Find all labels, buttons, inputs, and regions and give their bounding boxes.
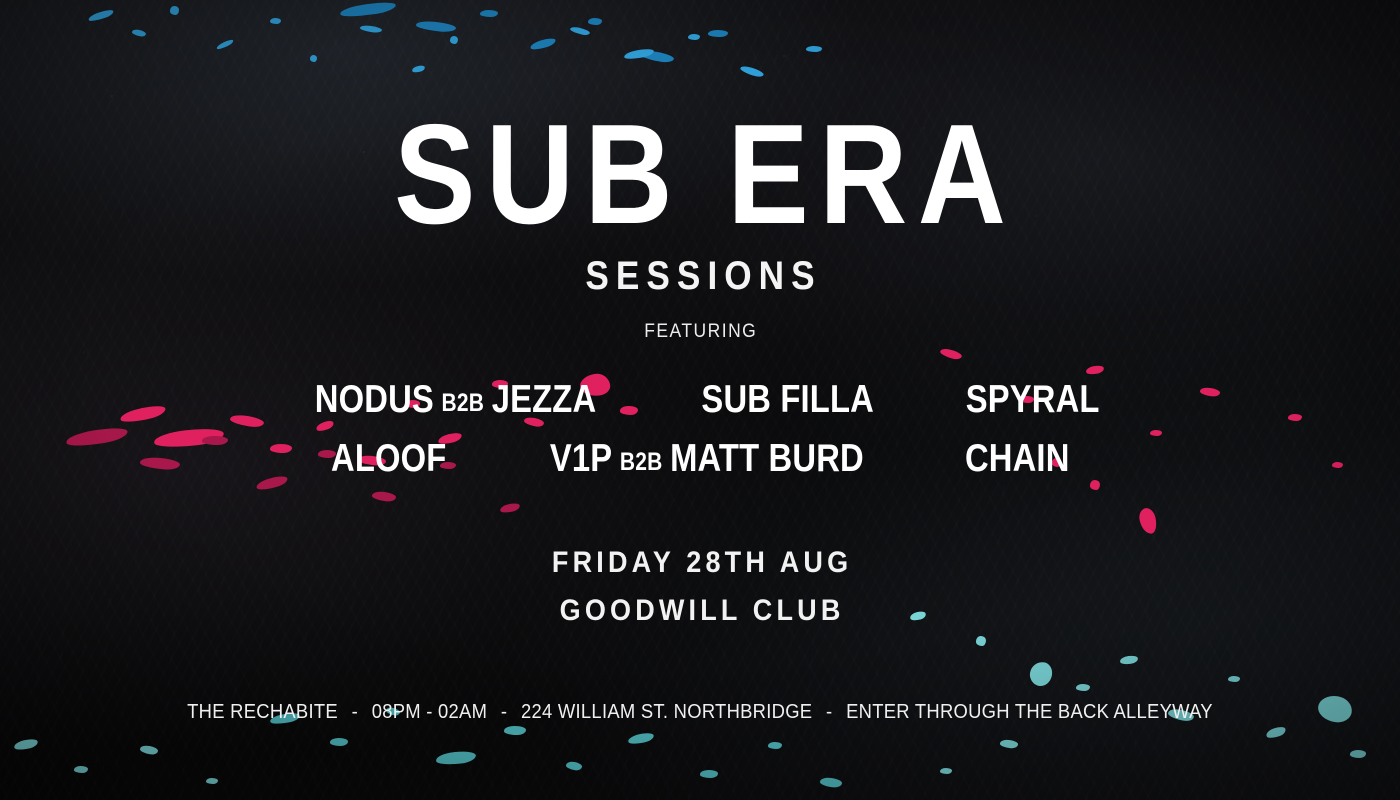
act-name: V1P bbox=[550, 439, 612, 478]
lineup-row-2: ALOOF V1P B2B MATT BURD CHAIN bbox=[0, 439, 1400, 478]
footer-time: 08PM - 02AM bbox=[372, 701, 488, 723]
act-name: SPYRAL bbox=[965, 380, 1099, 419]
act-name-secondary: JEZZA bbox=[492, 380, 597, 419]
footer-separator: - bbox=[343, 701, 366, 723]
event-title: SUB ERA bbox=[98, 104, 1302, 246]
flyer-content: SUB ERA SESSIONS FEATURING NODUS B2B JEZ… bbox=[0, 0, 1400, 800]
act-joiner: B2B bbox=[620, 450, 663, 475]
event-flyer: SUB ERA SESSIONS FEATURING NODUS B2B JEZ… bbox=[0, 0, 1400, 800]
act-name: ALOOF bbox=[331, 439, 446, 478]
lineup-act: SUB FILLA bbox=[702, 380, 875, 419]
act-joiner: B2B bbox=[442, 391, 485, 416]
lineup-row-1: NODUS B2B JEZZA SUB FILLA SPYRAL bbox=[0, 380, 1400, 419]
event-date: FRIDAY 28TH AUG bbox=[70, 548, 1330, 578]
footer-separator: - bbox=[818, 701, 841, 723]
footer-entry-note: ENTER THROUGH THE BACK ALLEYWAY bbox=[846, 701, 1213, 723]
footer-address: 224 WILLIAM ST. NORTHBRIDGE bbox=[521, 701, 812, 723]
featuring-label: FEATURING bbox=[56, 322, 1344, 341]
lineup-act: SPYRAL bbox=[965, 380, 1099, 419]
lineup-act: ALOOF bbox=[331, 439, 446, 478]
act-name-secondary: MATT BURD bbox=[670, 439, 864, 478]
footer-venue: THE RECHABITE bbox=[187, 701, 338, 723]
lineup-act: NODUS B2B JEZZA bbox=[315, 380, 596, 419]
lineup-act: V1P B2B MATT BURD bbox=[550, 439, 864, 478]
footer-details: THE RECHABITE - 08PM - 02AM - 224 WILLIA… bbox=[56, 702, 1344, 722]
act-name: CHAIN bbox=[965, 439, 1070, 478]
lineup-act: CHAIN bbox=[965, 439, 1070, 478]
act-name: SUB FILLA bbox=[702, 380, 875, 419]
lineup-section: NODUS B2B JEZZA SUB FILLA SPYRAL ALOOF V… bbox=[0, 380, 1400, 478]
footer-separator: - bbox=[493, 701, 516, 723]
event-subtitle: SESSIONS bbox=[84, 256, 1316, 296]
act-name: NODUS bbox=[315, 380, 434, 419]
event-venue: GOODWILL CLUB bbox=[70, 596, 1330, 626]
